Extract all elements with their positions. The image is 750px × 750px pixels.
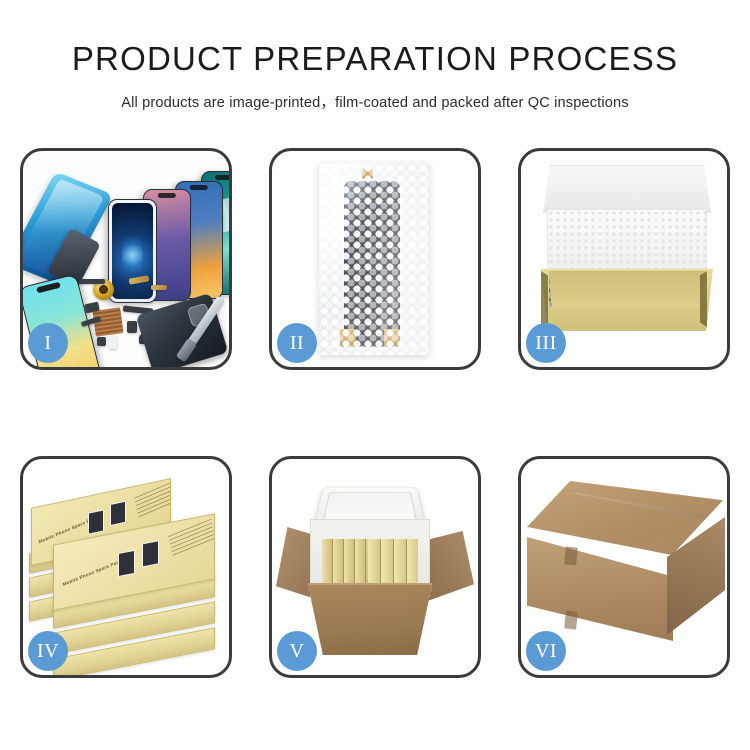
vibrator-motor-icon — [127, 321, 137, 333]
step-badge: III — [526, 323, 566, 363]
flex-cable-icon — [79, 279, 105, 284]
box-spec-lines-icon — [168, 519, 214, 557]
page-subtitle: All products are image-printed，film-coat… — [0, 91, 750, 112]
carton-body-icon — [308, 585, 432, 655]
box-chip-image-icon — [142, 540, 159, 567]
process-step-grid: I II — [20, 148, 730, 678]
tray-right-edge-icon — [700, 271, 707, 327]
tray-left-edge-icon — [541, 271, 548, 327]
carton-tape-upper-icon — [564, 546, 578, 565]
phone-screen-assembly-icon — [108, 199, 157, 303]
panel-step-1: I — [20, 148, 232, 370]
panel-step-5: V — [269, 456, 481, 678]
panel-step-2: II — [269, 148, 481, 370]
step-badge: V — [277, 631, 317, 671]
step-badge: VI — [526, 631, 566, 671]
gold-connector-small-icon — [151, 285, 167, 290]
box-chip-image-icon — [88, 509, 104, 534]
tray-front-panel-icon — [547, 271, 707, 307]
header: PRODUCT PREPARATION PROCESS All products… — [0, 40, 750, 112]
carton-tape-lower-icon — [564, 610, 578, 629]
screw-set-icon — [97, 337, 106, 346]
step-badge: II — [277, 323, 317, 363]
box-spec-lines-icon — [134, 479, 170, 518]
step-badge: I — [28, 323, 68, 363]
sim-tray-icon — [109, 335, 117, 349]
packed-boxes-icon — [322, 539, 418, 589]
plastic-sheen-icon — [319, 163, 429, 355]
page-title: PRODUCT PREPARATION PROCESS — [0, 40, 750, 78]
panel-step-4: Mobile Phone Spare Parts Mobile Phone Sp… — [20, 456, 232, 678]
panel-step-3: III — [518, 148, 730, 370]
product-preparation-infographic: PRODUCT PREPARATION PROCESS All products… — [0, 0, 750, 750]
carton-front-face-icon — [527, 537, 673, 641]
box-chip-image-icon — [118, 550, 135, 577]
step-badge: IV — [28, 631, 68, 671]
box-lid-icon — [543, 165, 711, 213]
box-chip-image-icon — [110, 501, 126, 526]
box-label-text: Mobile Phone Spare Parts — [62, 558, 123, 587]
foam-sheet-icon — [547, 209, 707, 275]
panel-step-6: VI — [518, 456, 730, 678]
